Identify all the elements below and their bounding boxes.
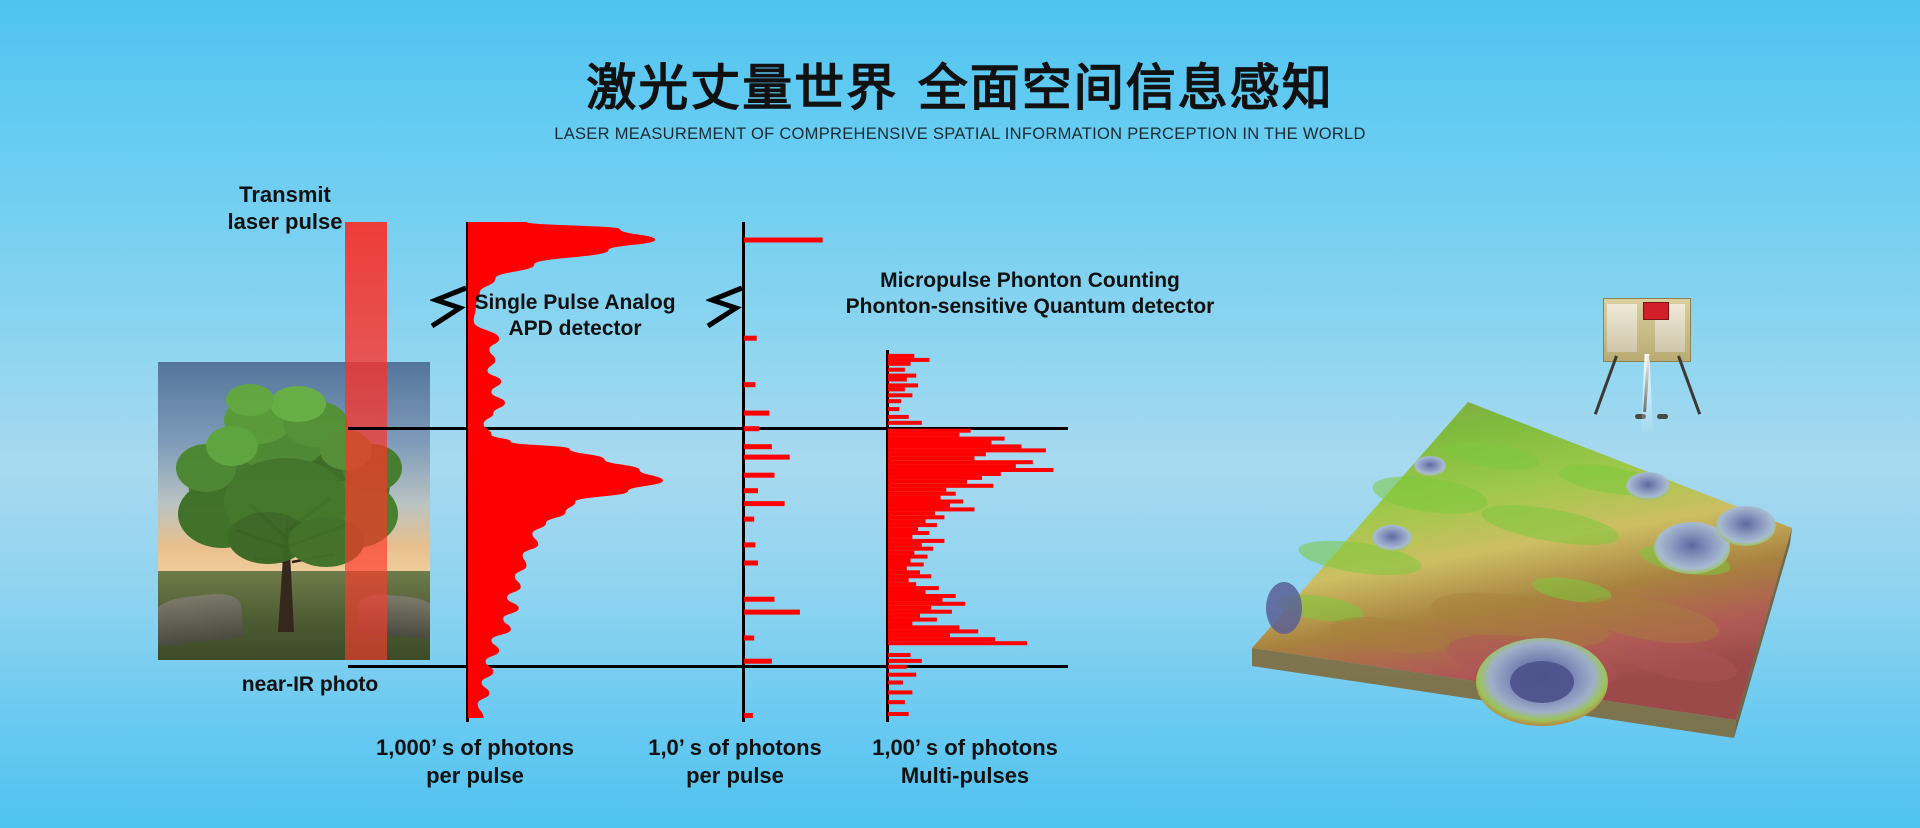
lander-foot-right (1657, 414, 1668, 419)
caption2-line1: 1,0’ s of photons (610, 734, 860, 762)
panel3-waveform (886, 350, 1086, 722)
lidar-terrain-model (1180, 290, 1820, 760)
laser-beam-icon (345, 222, 387, 660)
caption3-line2: Multi-pulses (830, 762, 1100, 790)
caption-analog-photons: 1,000’ s of photons per pulse (330, 734, 620, 789)
engine-plume-icon (1641, 354, 1653, 432)
apd-label-line1: Single Pulse Analog (420, 290, 730, 316)
photo-tree-shape (158, 362, 430, 660)
waveform-panel-micropulse (886, 350, 1086, 722)
lander-leg-right (1677, 355, 1701, 414)
lander-solar-panel-left (1607, 304, 1637, 352)
transmit-label-line2: laser pulse (200, 209, 370, 236)
analog-apd-detector-label: Single Pulse Analog APD detector (420, 290, 730, 341)
page-title: 激光丈量世界 全面空间信息感知 (0, 48, 1920, 120)
terrain-surface (1180, 290, 1820, 760)
caption1-line2: per pulse (330, 762, 620, 790)
china-flag-icon (1643, 302, 1669, 320)
caption-low-photons: 1,0’ s of photons per pulse (610, 734, 860, 789)
transmit-laser-pulse-label: Transmit laser pulse (200, 182, 370, 236)
page-subtitle: LASER MEASUREMENT OF COMPREHENSIVE SPATI… (0, 125, 1920, 144)
caption2-line2: per pulse (610, 762, 860, 790)
lander-leg-left (1594, 355, 1618, 414)
caption3-line1: 1,00’ s of photons (830, 734, 1100, 762)
transmit-label-line1: Transmit (200, 182, 370, 209)
caption1-line1: 1,000’ s of photons (330, 734, 620, 762)
apd-label-line2: APD detector (420, 316, 730, 342)
caption-multipulse-photons: 1,00’ s of photons Multi-pulses (830, 734, 1100, 789)
near-ir-tree-photo (158, 362, 430, 660)
lunar-lander-icon (1585, 290, 1705, 418)
near-ir-photo-label: near-IR photo (200, 672, 420, 698)
poster-stage: 激光丈量世界 全面空间信息感知 LASER MEASUREMENT OF COM… (0, 0, 1920, 828)
